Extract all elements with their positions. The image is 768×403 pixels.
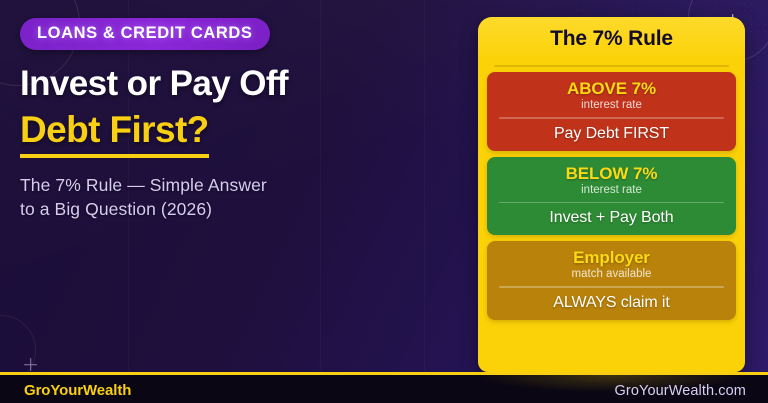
hero-text-block: LOANS & CREDIT CARDS Invest or Pay Off D…	[20, 18, 450, 221]
subtitle-line2: to a Big Question (2026)	[20, 197, 450, 221]
rule-row-employer: Employer match available ALWAYS claim it	[487, 241, 736, 320]
rule-row-action: Invest + Pay Both	[497, 209, 726, 227]
rule-card-heading: The 7% Rule	[478, 17, 745, 61]
rule-row-title: Employer	[497, 248, 726, 268]
infographic-canvas: LOANS & CREDIT CARDS Invest or Pay Off D…	[0, 0, 768, 403]
rule-row-title: BELOW 7%	[497, 164, 726, 184]
rule-row-below: BELOW 7% interest rate Invest + Pay Both	[487, 157, 736, 236]
rule-row-action: Pay Debt FIRST	[497, 125, 726, 143]
divider	[499, 286, 724, 288]
page-subtitle: The 7% Rule — Simple Answer to a Big Que…	[20, 173, 450, 221]
divider	[494, 65, 729, 67]
category-badge: LOANS & CREDIT CARDS	[20, 18, 270, 50]
footer-brand: GroYourWealth	[24, 382, 131, 399]
divider	[499, 202, 724, 204]
subtitle-line1: The 7% Rule — Simple Answer	[20, 173, 450, 197]
page-title-line1: Invest or Pay Off	[20, 64, 450, 104]
rule-row-subtitle: match available	[497, 268, 726, 280]
rule-card: The 7% Rule ABOVE 7% interest rate Pay D…	[478, 17, 745, 372]
footer-website: GroYourWealth.com	[615, 383, 746, 399]
divider	[499, 117, 724, 119]
rule-row-above: ABOVE 7% interest rate Pay Debt FIRST	[487, 72, 736, 151]
rule-row-title: ABOVE 7%	[497, 79, 726, 99]
rule-row-subtitle: interest rate	[497, 99, 726, 111]
footer-bar: GroYourWealth GroYourWealth.com	[0, 372, 768, 403]
page-title-line2: Debt First?	[20, 108, 209, 158]
rule-row-subtitle: interest rate	[497, 184, 726, 196]
rule-row-action: ALWAYS claim it	[497, 294, 726, 312]
